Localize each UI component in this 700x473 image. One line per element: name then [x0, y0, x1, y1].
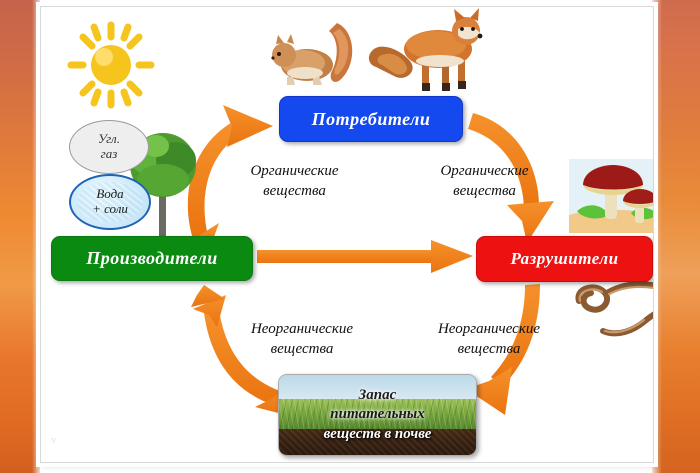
caption-inorganic-right: Неорганические вещества — [409, 320, 569, 359]
caption-inorganic-right-line2: вещества — [409, 340, 569, 360]
node-producers-label: Производители — [86, 248, 218, 269]
soil-label-line3: веществ в почве — [324, 426, 432, 443]
node-producers[interactable]: Производители — [51, 236, 253, 281]
fox-illustration — [366, 7, 491, 95]
right-border-strip — [652, 0, 700, 473]
watermark: v — [51, 434, 58, 446]
carbon-gas-line2: газ — [101, 147, 118, 162]
caption-organic-left: Органические вещества — [222, 162, 367, 201]
node-consumers-label: Потребители — [312, 109, 431, 130]
left-border-strip — [0, 0, 40, 473]
soil-label-line1: Запас — [359, 387, 397, 404]
caption-organic-left-line2: вещества — [222, 182, 367, 202]
caption-inorganic-left: Неорганические вещества — [222, 320, 382, 359]
sun-illustration — [61, 15, 161, 115]
input-oval-water-salts: Вода + соли — [69, 174, 151, 230]
caption-organic-right-line1: Органические — [412, 162, 557, 182]
soil-label: Запас питательных веществ в почве — [279, 375, 476, 455]
node-soil-nutrient-reserve[interactable]: Запас питательных веществ в почве — [278, 374, 477, 456]
arrow-producers-to-decomposers — [257, 240, 473, 273]
carbon-gas-line1: Угл. — [98, 132, 120, 147]
water-line2: + соли — [92, 202, 128, 217]
caption-organic-right: Органические вещества — [412, 162, 557, 201]
caption-organic-left-line1: Органические — [222, 162, 367, 182]
water-line1: Вода — [96, 187, 123, 202]
squirrel-illustration — [267, 13, 362, 95]
caption-inorganic-right-line1: Неорганические — [409, 320, 569, 340]
input-oval-carbon-gas: Угл. газ — [69, 120, 149, 174]
earthworm-illustration — [573, 279, 654, 341]
content-card: Угл. газ Вода + соли Производители Потре… — [40, 6, 654, 463]
node-decomposers[interactable]: Разрушители — [476, 236, 653, 282]
slide-canvas: Угл. газ Вода + соли Производители Потре… — [0, 0, 700, 473]
node-consumers[interactable]: Потребители — [279, 96, 463, 142]
soil-label-line2: питательных — [330, 406, 424, 423]
caption-inorganic-left-line1: Неорганические — [222, 320, 382, 340]
node-decomposers-label: Разрушители — [510, 249, 618, 269]
caption-organic-right-line2: вещества — [412, 182, 557, 202]
mushroom-illustration — [569, 159, 654, 233]
caption-inorganic-left-line2: вещества — [222, 340, 382, 360]
